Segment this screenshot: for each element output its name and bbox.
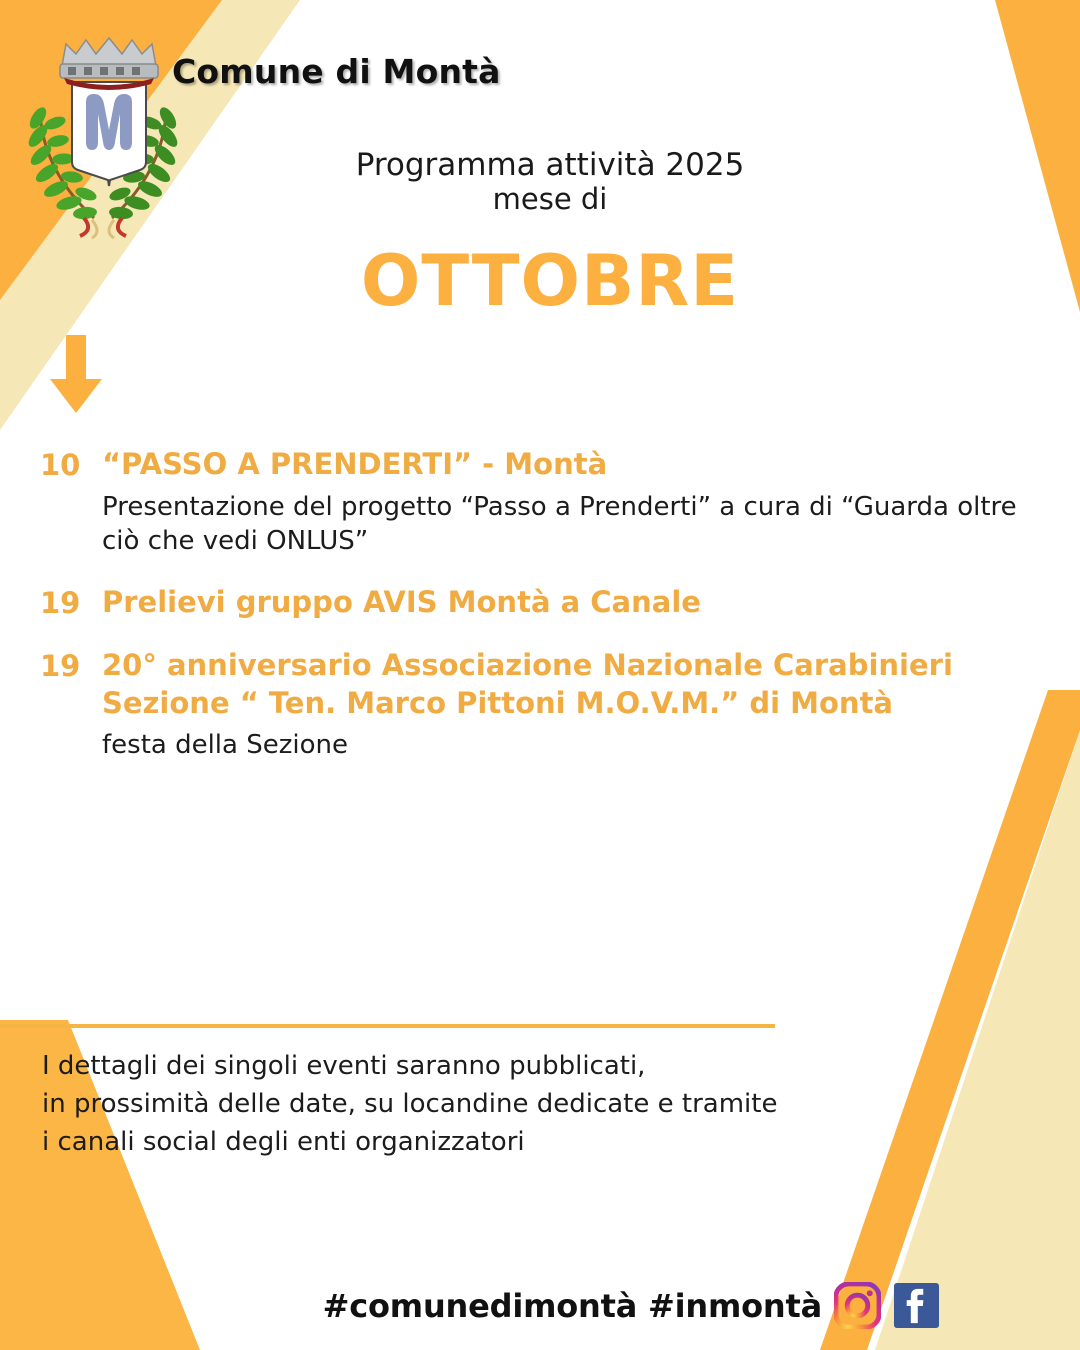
social-footer: #comunedimontà #inmontà [0,1282,940,1329]
footer-note-line-3: i canali social degli enti organizzatori [42,1124,832,1162]
poster-canvas: Comune di Montà Programma attività 2025 … [0,0,1080,1350]
footer-note-line-2: in prossimità delle date, su locandine d… [42,1086,832,1124]
facebook-icon[interactable] [893,1282,940,1329]
event-title: “PASSO A PRENDERTI” - Montà [102,446,1020,484]
event-body: “PASSO A PRENDERTI” - Montà Presentazion… [102,446,1020,558]
event-body: Prelievi gruppo AVIS Montà a Canale [102,584,1020,622]
event-body: 20° anniversario Associazione Nazionale … [102,647,1020,763]
event-day: 10 [40,446,102,485]
instagram-icon[interactable] [834,1282,881,1329]
page-title: Comune di Montà [172,52,501,91]
event-title: Prelievi gruppo AVIS Montà a Canale [102,584,1020,622]
event-description: festa della Sezione [102,728,1020,762]
program-month-label: mese di [210,183,890,215]
event-item[interactable]: 10 “PASSO A PRENDERTI” - Montà Presentaz… [40,446,1020,558]
event-day: 19 [40,647,102,686]
event-description: Presentazione del progetto “Passo a Pren… [102,490,1020,559]
program-year-line: Programma attività 2025 [210,148,890,183]
event-item[interactable]: 19 20° anniversario Associazione Naziona… [40,647,1020,763]
events-list: 10 “PASSO A PRENDERTI” - Montà Presentaz… [40,446,1020,779]
program-heading: Programma attività 2025 mese di [210,148,890,215]
decoration-bottom-right-cream [820,730,1080,1350]
event-item[interactable]: 19 Prelievi gruppo AVIS Montà a Canale [40,584,1020,623]
arrow-down-icon [48,335,104,413]
month-title: OTTOBRE [210,240,890,322]
event-day: 19 [40,584,102,623]
footer-note: I dettagli dei singoli eventi saranno pu… [42,1048,832,1162]
footer-note-line-1: I dettagli dei singoli eventi saranno pu… [42,1048,832,1086]
decoration-bottom-right-orange [820,690,1080,1350]
hashtags-text: #comunedimontà #inmontà [323,1287,822,1325]
section-divider [0,1024,775,1028]
event-title: 20° anniversario Associazione Nazionale … [102,647,1020,722]
